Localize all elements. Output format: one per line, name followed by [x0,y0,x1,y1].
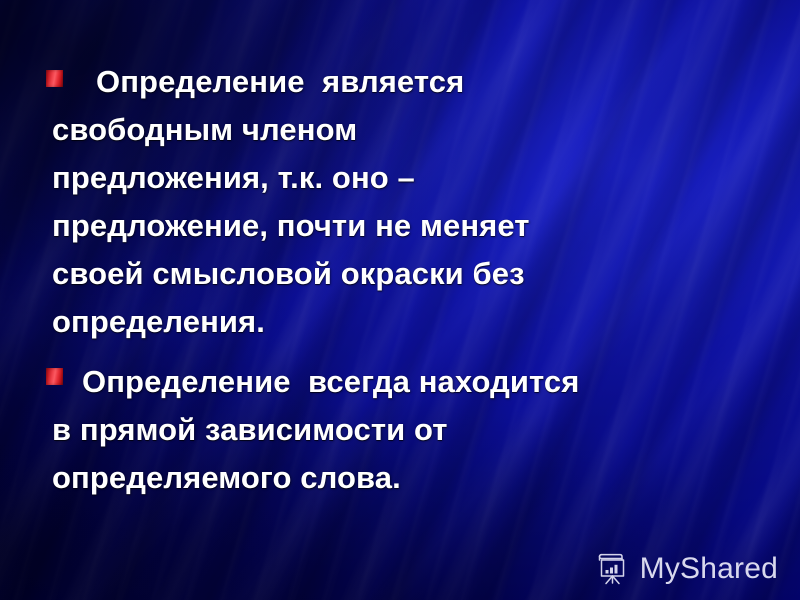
flipchart-chart-icon [596,552,630,586]
bullet-text-line: определяемого слова. [52,454,758,502]
slide-content: Определение является свободным членом пр… [0,0,800,600]
bullet-paragraph: Определение является свободным членом пр… [46,58,758,346]
bullet-text-line: в прямой зависимости от [52,406,758,454]
bullet-paragraph: Определение всегда находится в прямой за… [46,358,758,502]
bullet-text-line: Определение является [82,58,758,106]
myshared-watermark-label: MyShared [640,552,778,586]
myshared-watermark: MyShared [596,552,778,586]
bullet-text-line: определения. [52,298,758,346]
red-square-bullet-icon [46,368,63,385]
bullet-text-line: Определение всегда находится [82,358,758,406]
bullet-text-line: предложения, т.к. оно – [52,154,758,202]
bullet-paragraph-body: Определение является свободным членом пр… [46,58,758,346]
bullet-text-line: свободным членом [52,106,758,154]
bullet-paragraph-body: Определение всегда находится в прямой за… [46,358,758,502]
slide-canvas: Определение является свободным членом пр… [0,0,800,600]
bullet-text-line: своей смысловой окраски без [52,250,758,298]
bullet-text-line: предложение, почти не меняет [52,202,758,250]
red-square-bullet-icon [46,70,63,87]
